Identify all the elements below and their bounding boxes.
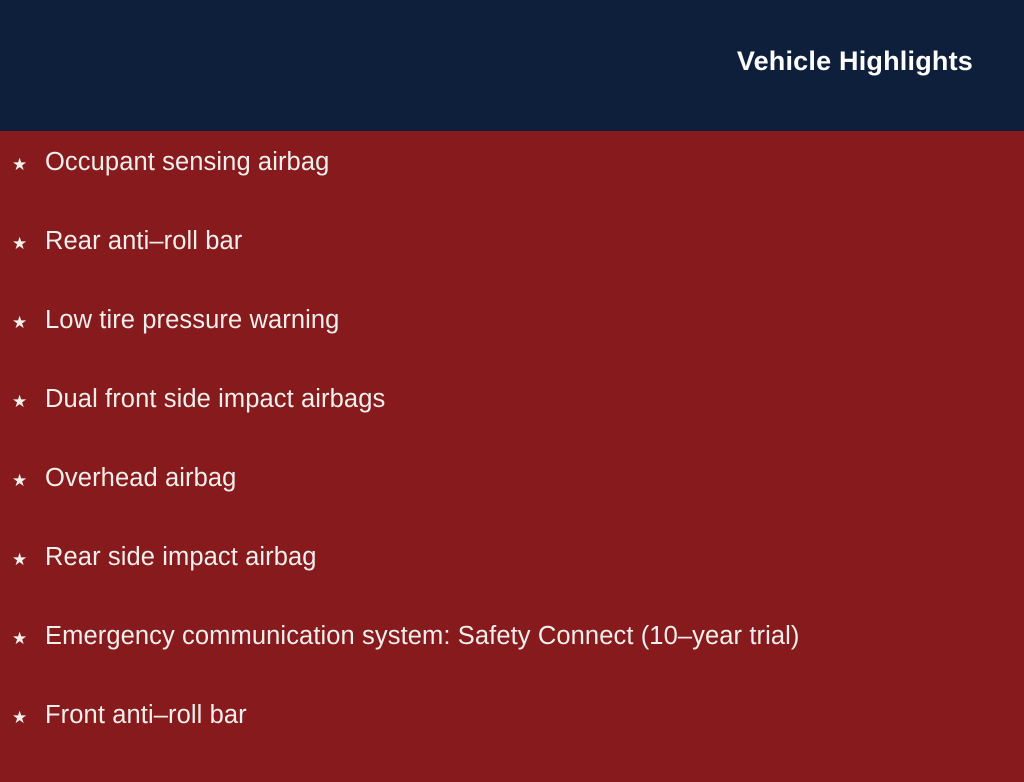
list-item-label: Front anti–roll bar	[45, 703, 247, 729]
list-item: ★ Low tire pressure warning	[0, 308, 1024, 387]
star-icon: ★	[12, 156, 45, 173]
list-item-label: Rear anti–roll bar	[45, 229, 242, 255]
star-icon: ★	[12, 472, 45, 489]
star-icon: ★	[12, 235, 45, 252]
list-item: ★ Emergency communication system: Safety…	[0, 624, 1024, 703]
header-band: Vehicle Highlights	[0, 0, 1024, 131]
list-item: ★ Dual front side impact airbags	[0, 387, 1024, 466]
page-title: Vehicle Highlights	[737, 46, 973, 77]
slide: Vehicle Highlights ★ Occupant sensing ai…	[0, 0, 1024, 768]
list-item-label: Emergency communication system: Safety C…	[45, 624, 800, 650]
star-icon: ★	[12, 630, 45, 647]
list-item-label: Low tire pressure warning	[45, 308, 339, 334]
list-item: ★ Occupant sensing airbag	[0, 150, 1024, 229]
list-item: ★ Rear anti–roll bar	[0, 229, 1024, 308]
list-item-label: Dual front side impact airbags	[45, 387, 385, 413]
list-item: ★ Front anti–roll bar	[0, 703, 1024, 782]
star-icon: ★	[12, 551, 45, 568]
vehicle-highlights-list: ★ Occupant sensing airbag ★ Rear anti–ro…	[0, 150, 1024, 782]
list-item: ★ Overhead airbag	[0, 466, 1024, 545]
star-icon: ★	[12, 709, 45, 726]
star-icon: ★	[12, 314, 45, 331]
list-item: ★ Rear side impact airbag	[0, 545, 1024, 624]
list-item-label: Occupant sensing airbag	[45, 150, 329, 176]
list-item-label: Overhead airbag	[45, 466, 236, 492]
list-item-label: Rear side impact airbag	[45, 545, 317, 571]
star-icon: ★	[12, 393, 45, 410]
